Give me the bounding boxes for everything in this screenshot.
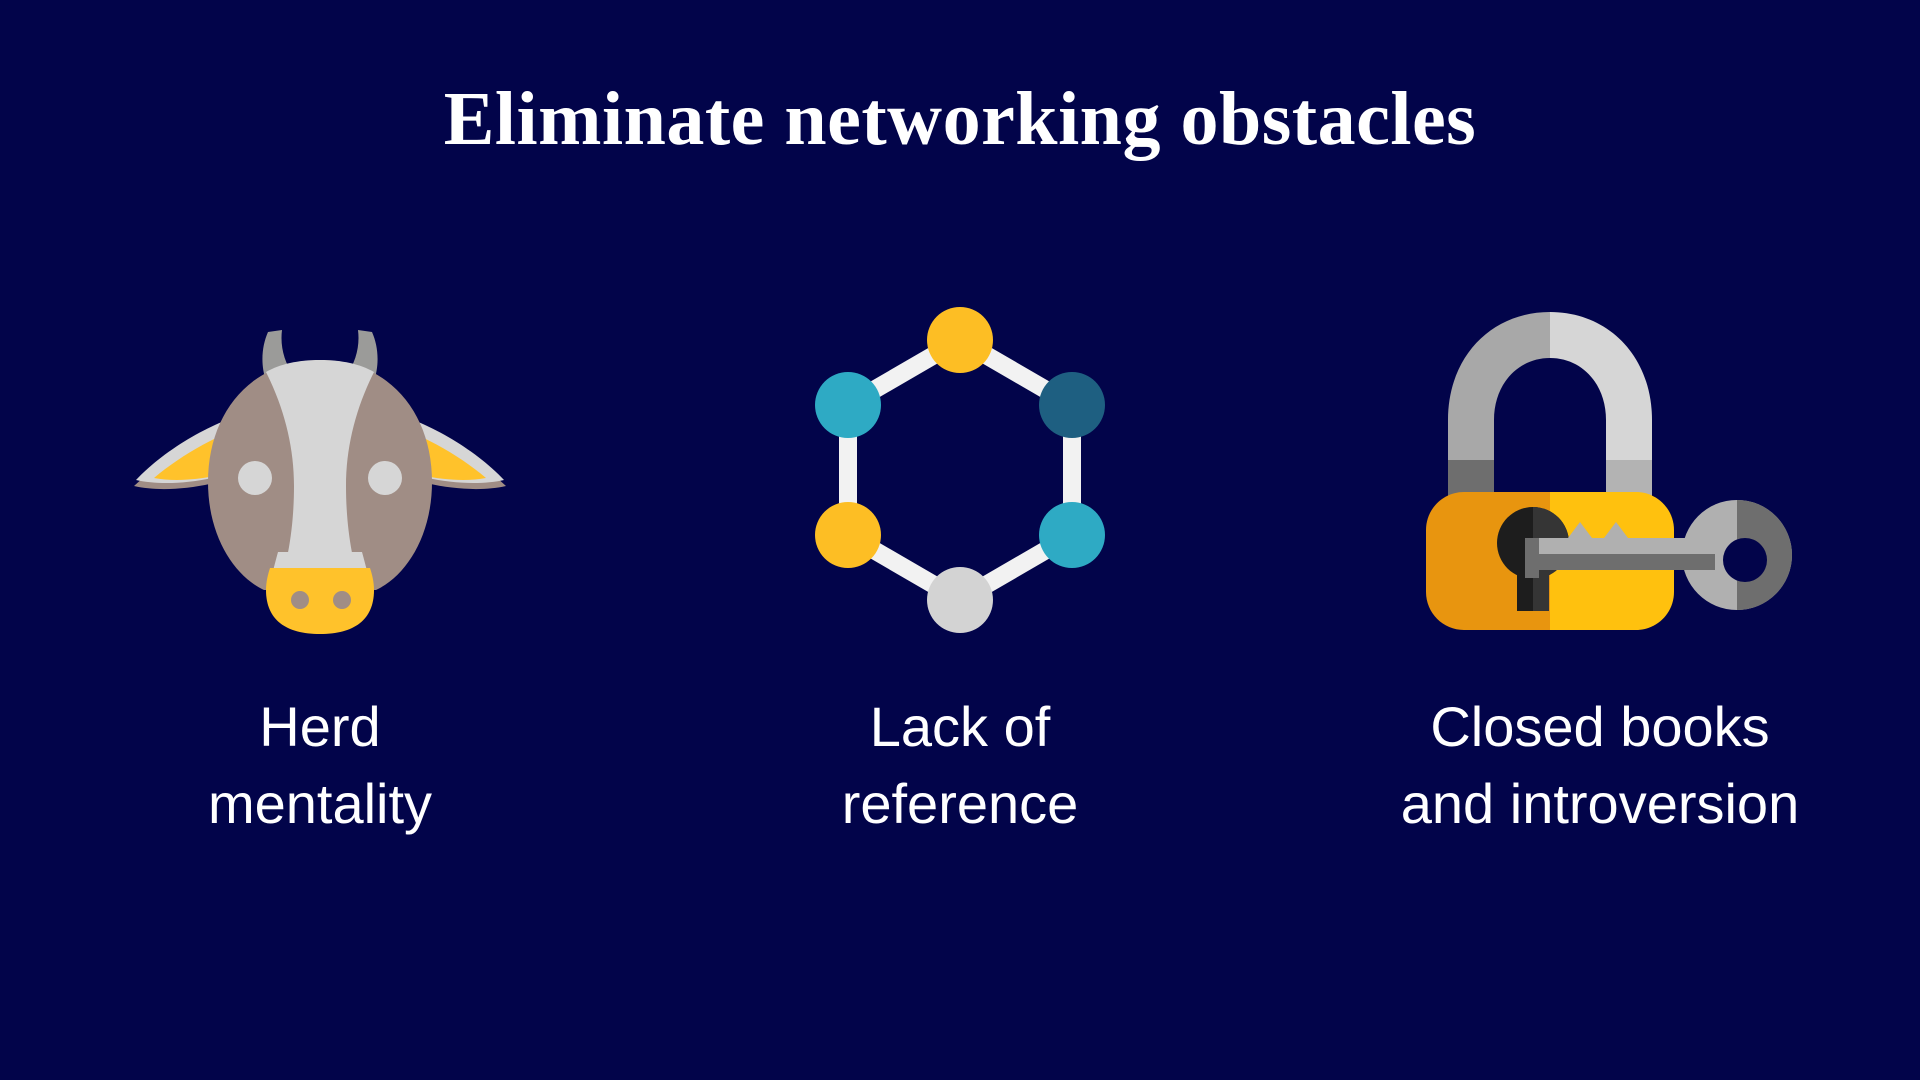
obstacle-card-lack-of-reference[interactable]: Lack of reference	[640, 270, 1280, 970]
obstacle-caption-lack-of-reference: Lack of reference	[650, 688, 1270, 843]
obstacle-card-herd-mentality[interactable]: Herd mentality	[0, 270, 640, 970]
padlock-with-key-icon-graphic	[1400, 300, 1800, 640]
caption-line-2: and introversion	[1290, 765, 1910, 842]
caption-line-2: mentality	[10, 765, 630, 842]
network-node-bottom-right	[1039, 502, 1105, 568]
cow-head-icon-graphic	[120, 290, 520, 650]
network-node-bottom	[927, 567, 993, 633]
caption-line-1: Lack of	[650, 688, 1270, 765]
hexagon-network-icon	[760, 270, 1160, 670]
network-node-top	[927, 307, 993, 373]
obstacle-caption-closed-books: Closed books and introversion	[1290, 688, 1910, 843]
obstacle-card-closed-books[interactable]: Closed books and introversion	[1280, 270, 1920, 970]
page-title: Eliminate networking obstacles	[0, 78, 1920, 162]
network-node-top-right	[1039, 372, 1105, 438]
obstacle-columns: Herd mentality	[0, 270, 1920, 970]
slide-canvas: Eliminate networking obstacles	[0, 0, 1920, 1080]
network-node-bottom-left	[815, 502, 881, 568]
caption-line-1: Closed books	[1290, 688, 1910, 765]
cow-head-icon	[120, 270, 520, 670]
padlock-with-key-icon	[1400, 270, 1800, 670]
hexagon-network-icon-graphic	[780, 290, 1140, 650]
network-node-top-left	[815, 372, 881, 438]
caption-line-1: Herd	[10, 688, 630, 765]
caption-line-2: reference	[650, 765, 1270, 842]
obstacle-caption-herd-mentality: Herd mentality	[10, 688, 630, 843]
